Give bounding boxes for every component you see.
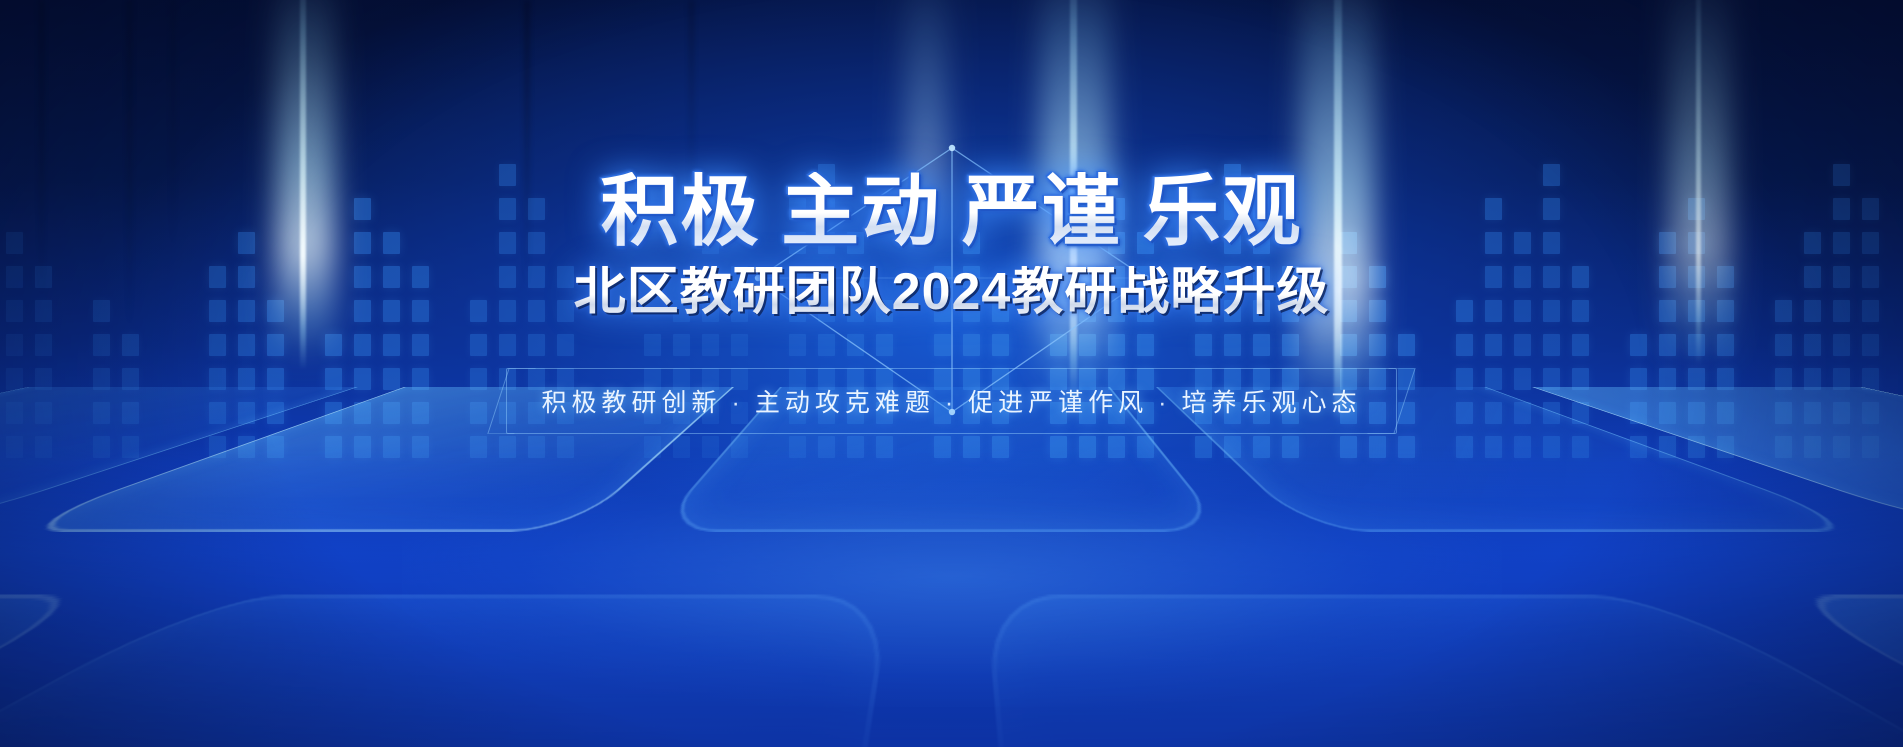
tagline-item-3: 促进严谨作风 [968, 389, 1148, 417]
banner-content: 积极·主动·严谨·乐观 北区教研团队2024教研战略升级 积极教研创新·主动攻克… [0, 0, 1903, 747]
headline-word-4: 乐观 [1143, 167, 1303, 255]
tagline-separator: · [721, 389, 754, 417]
headline-word-3: 严谨 [962, 167, 1122, 255]
tagline-separator: · [935, 389, 968, 417]
banner-subheadline: 北区教研团队2024教研战略升级 [574, 266, 1330, 318]
headline-separator: · [761, 190, 782, 234]
headline-word-2: 主动 [781, 167, 941, 255]
headline-separator: · [1122, 190, 1143, 234]
promo-banner: 积极·主动·严谨·乐观 北区教研团队2024教研战略升级 积极教研创新·主动攻克… [0, 0, 1903, 747]
banner-headline: 积极·主动·严谨·乐观 [600, 172, 1302, 250]
banner-tagline: 积极教研创新·主动攻克难题·促进严谨作风·培养乐观心态 [541, 383, 1361, 419]
tagline-item-2: 主动攻克难题 [755, 389, 935, 417]
tagline-item-4: 培养乐观心态 [1182, 389, 1362, 417]
headline-word-1: 积极 [600, 167, 760, 255]
tagline-frame: 积极教研创新·主动攻克难题·促进严谨作风·培养乐观心态 [506, 368, 1396, 434]
tagline-item-1: 积极教研创新 [541, 389, 721, 417]
tagline-separator: · [1148, 389, 1181, 417]
headline-separator: · [941, 190, 962, 234]
